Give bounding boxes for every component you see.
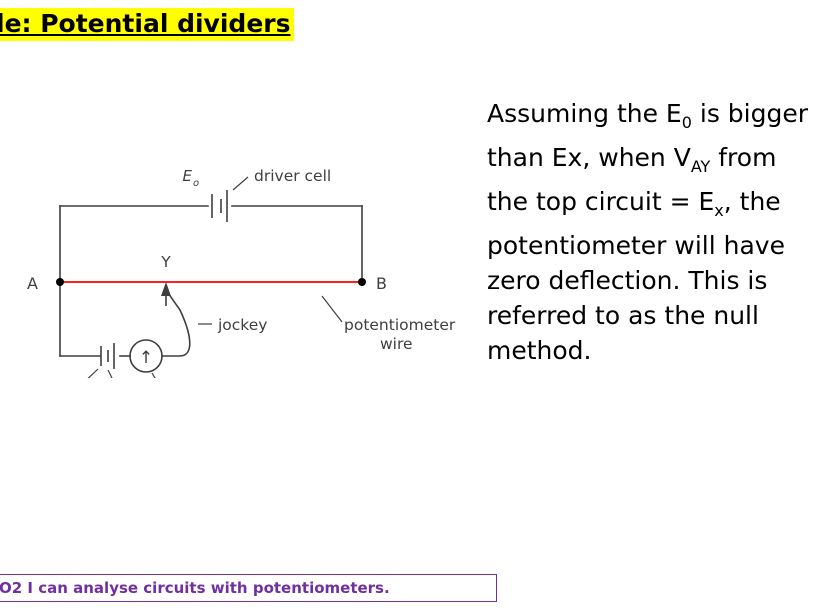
circuit-diagram-container: ↑ E o driver cell A B Y jockey potentiom… (0, 78, 480, 378)
potentiometer-circuit-diagram: ↑ E o driver cell A B Y jockey potentiom… (0, 78, 480, 378)
slide-body-paragraph: Assuming the E0 is bigger than Ex, when … (487, 96, 815, 368)
galvanometer-arrow-glyph: ↑ (139, 348, 153, 368)
driver-cell-label: driver cell (254, 167, 331, 185)
point-b-label: B (376, 274, 387, 293)
jockey-arrow (161, 282, 171, 306)
node-a (56, 278, 64, 286)
node-b (358, 278, 366, 286)
point-y-label: Y (160, 253, 171, 271)
slide-title: le: Potential dividers (0, 8, 294, 41)
driver-cell-emf-label: E (183, 167, 193, 185)
body-text-sub-ay: AY (691, 157, 710, 176)
jockey-label: jockey (217, 316, 267, 334)
body-text-sub-0: 0 (682, 113, 692, 132)
potentiometer-wire-label-line2: wire (380, 335, 413, 353)
body-text-part-1: Assuming the E (487, 99, 682, 128)
body-text-sub-x: x (714, 201, 723, 220)
learning-objective-box: O2 I can analyse circuits with potentiom… (0, 574, 497, 602)
driver-cell-emf-subscript: o (193, 178, 199, 189)
potentiometer-wire-label-line1: potentiometer (344, 316, 456, 334)
learning-objective-text: O2 I can analyse circuits with potentiom… (0, 579, 390, 597)
point-a-label: A (27, 274, 38, 293)
